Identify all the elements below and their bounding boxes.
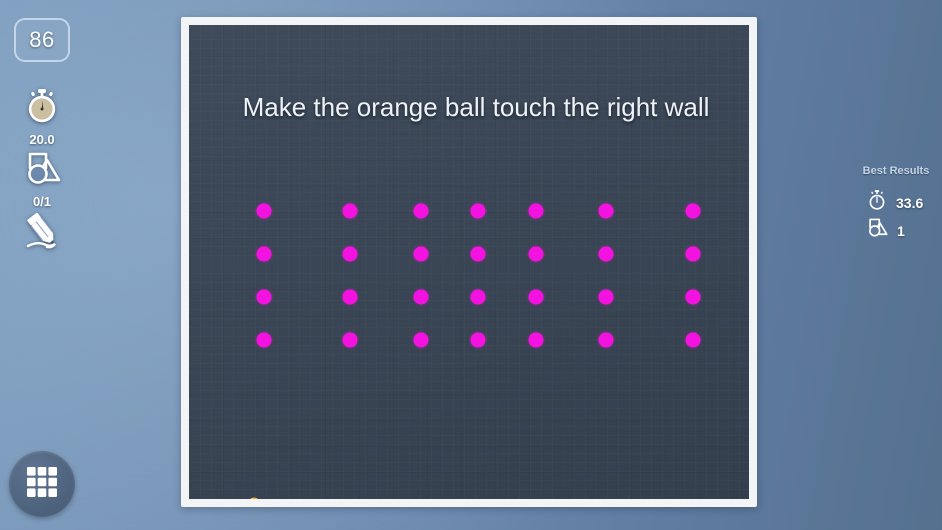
- dot-r3-c0: [257, 333, 272, 348]
- dot-r1-c4: [529, 247, 544, 262]
- dot-r1-c6: [686, 247, 701, 262]
- best-objects-value: 1: [897, 223, 927, 239]
- dot-r2-c0: [257, 290, 272, 305]
- timer-value: 20.0: [0, 132, 84, 147]
- game-board: Make the orange ball touch the right wal…: [181, 17, 757, 507]
- level-number: 86: [29, 27, 54, 53]
- best-results-label: Best Results: [850, 165, 942, 177]
- dot-r1-c0: [257, 247, 272, 262]
- dot-r1-c5: [599, 247, 614, 262]
- shapes-icon: [0, 150, 84, 193]
- dot-r3-c2: [414, 333, 429, 348]
- dot-r3-c3: [471, 333, 486, 348]
- game-canvas[interactable]: Make the orange ball touch the right wal…: [189, 25, 749, 499]
- dot-r0-c1: [343, 204, 358, 219]
- best-time-value: 33.6: [896, 195, 926, 211]
- shapes-icon: [865, 217, 889, 244]
- left-sidebar: 86 20.0: [0, 0, 84, 530]
- dot-r3-c4: [529, 333, 544, 348]
- puzzle-title: Make the orange ball touch the right wal…: [231, 87, 721, 128]
- dot-r2-c3: [471, 290, 486, 305]
- dot-r0-c3: [471, 204, 486, 219]
- level-badge: 86: [14, 18, 70, 62]
- dot-r2-c5: [599, 290, 614, 305]
- grid-menu-button[interactable]: [9, 451, 75, 517]
- timer-stat: 20.0: [0, 86, 84, 147]
- dot-r3-c6: [686, 333, 701, 348]
- dot-r0-c5: [599, 204, 614, 219]
- best-time-row: 33.6: [850, 188, 942, 217]
- dot-r3-c1: [343, 333, 358, 348]
- dot-r0-c4: [529, 204, 544, 219]
- dot-r0-c6: [686, 204, 701, 219]
- dot-r1-c2: [414, 247, 429, 262]
- dot-r2-c4: [529, 290, 544, 305]
- dot-r1-c3: [471, 247, 486, 262]
- dot-r0-c2: [414, 204, 429, 219]
- dot-r2-c1: [343, 290, 358, 305]
- stopwatch-icon: [0, 86, 84, 131]
- right-sidebar: Best Results 33.6: [850, 0, 942, 530]
- orange-ball[interactable]: [248, 498, 261, 500]
- dot-r1-c1: [343, 247, 358, 262]
- dot-r2-c2: [414, 290, 429, 305]
- stopwatch-icon: [866, 188, 888, 217]
- pencil-tool-button[interactable]: [0, 212, 84, 257]
- pencil-icon: [0, 212, 84, 257]
- dot-r2-c6: [686, 290, 701, 305]
- objects-value: 0/1: [0, 194, 84, 209]
- best-objects-row: 1: [850, 217, 942, 244]
- dot-r3-c5: [599, 333, 614, 348]
- objects-stat: 0/1: [0, 150, 84, 209]
- dot-r0-c0: [257, 204, 272, 219]
- grid-menu-icon: [25, 465, 59, 504]
